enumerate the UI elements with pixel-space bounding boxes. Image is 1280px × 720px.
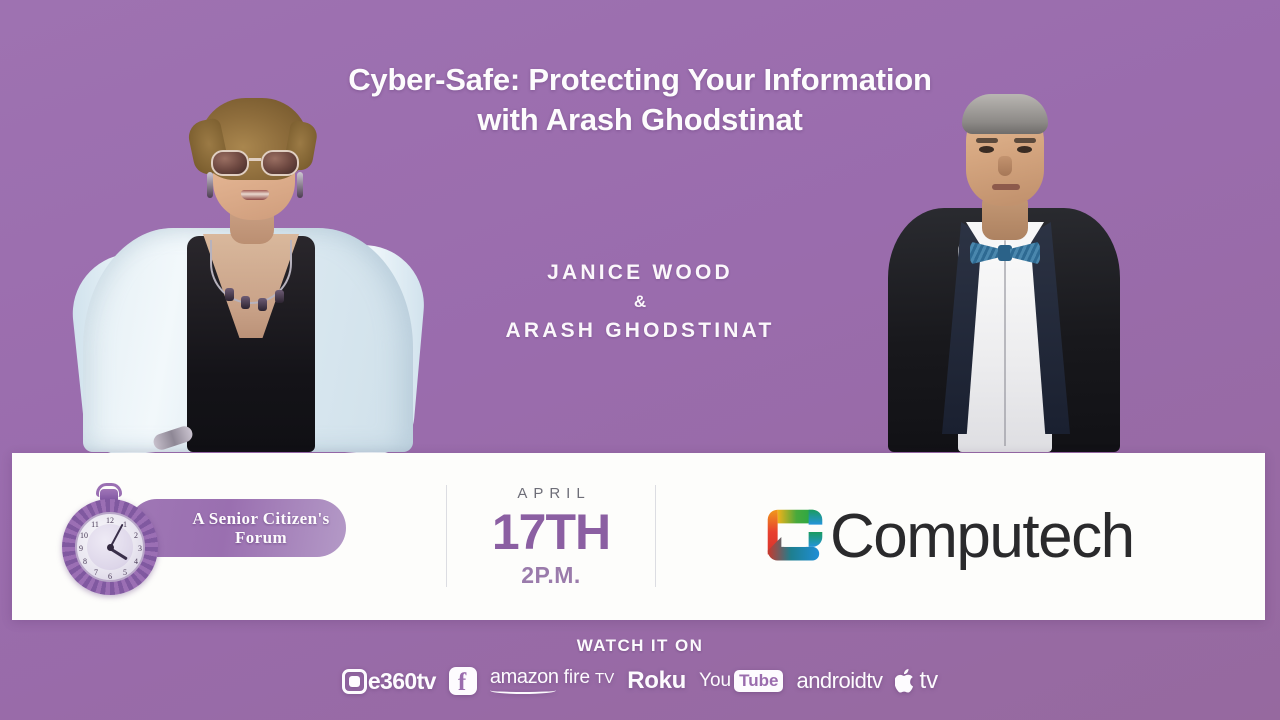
- title-line-2: with Arash Ghodstinat: [0, 100, 1280, 140]
- platform-roku[interactable]: Roku: [627, 666, 686, 696]
- sponsor-logo-computech[interactable]: Computech: [764, 506, 1134, 568]
- platform-amazon-firetv[interactable]: amazon fire TV: [490, 666, 614, 696]
- woman-earring-right: [297, 172, 303, 198]
- platform-appletv[interactable]: tv: [895, 666, 938, 696]
- watch-numeral: 9: [76, 544, 86, 553]
- title-line-1: Cyber-Safe: Protecting Your Information: [0, 60, 1280, 100]
- promo-graphic: Cyber-Safe: Protecting Your Information …: [0, 0, 1280, 720]
- speaker-name-first: JANICE WOOD: [0, 258, 1280, 288]
- page-title: Cyber-Safe: Protecting Your Information …: [0, 60, 1280, 140]
- event-day: 17TH: [446, 504, 656, 560]
- watch-center-pin: [107, 544, 114, 551]
- platform-facebook[interactable]: f: [449, 666, 477, 696]
- platform-e360tv[interactable]: e360tv: [342, 666, 436, 696]
- sunglass-lens-right: [261, 150, 299, 176]
- watch-it-on-section: WATCH IT ON: [0, 636, 1280, 656]
- woman-mouth: [241, 190, 269, 200]
- watch-numeral: 2: [131, 531, 141, 540]
- apple-tv-icon: [895, 668, 917, 694]
- watch-numeral: 4: [131, 557, 141, 566]
- watch-numeral: 5: [120, 568, 130, 577]
- amazon-smile-icon: [490, 687, 556, 694]
- e360tv-icon: [342, 669, 367, 694]
- amazon-firetv-icon: amazon fire TV: [490, 666, 614, 689]
- watch-numeral: 8: [80, 557, 90, 566]
- speaker-name-separator: &: [0, 288, 1280, 316]
- platform-androidtv[interactable]: androidtv: [796, 666, 882, 696]
- forum-logo-line-1: A Senior Citizen's: [144, 509, 329, 528]
- watch-numeral: 7: [91, 568, 101, 577]
- facebook-icon: f: [449, 667, 477, 695]
- amazon-word: amazon: [490, 666, 559, 689]
- watch-numeral: 6: [105, 572, 115, 581]
- platform-label-e360tv: e360tv: [368, 668, 436, 695]
- speaker-name-second: ARASH GHODSTINAT: [0, 316, 1280, 346]
- watch-numeral: 3: [135, 544, 145, 553]
- facebook-f-glyph: f: [458, 670, 466, 695]
- man-eye-left: [979, 146, 994, 153]
- pocket-watch-icon: 12 1 2 3 4 5 6 7 8 9 10 11: [58, 483, 162, 595]
- youtube-icon: Tube: [734, 670, 783, 692]
- event-month: APRIL: [446, 485, 656, 502]
- sunglass-lens-left: [211, 150, 249, 176]
- roku-icon: Roku: [627, 667, 686, 695]
- woman-earring-left: [207, 172, 213, 198]
- sunglass-bridge: [249, 158, 261, 161]
- watch-it-on-label: WATCH IT ON: [577, 636, 704, 655]
- fire-word: fire: [564, 667, 590, 689]
- sunglasses-icon: [211, 150, 299, 176]
- platform-youtube[interactable]: You Tube: [699, 666, 783, 696]
- event-date-block: APRIL 17TH 2P.M.: [446, 479, 656, 595]
- forum-logo-line-2: Forum: [187, 528, 287, 547]
- youtube-you-word: You: [699, 670, 731, 692]
- man-eye-right: [1017, 146, 1032, 153]
- computech-c-icon: [764, 506, 826, 568]
- platform-logos-row: e360tv f amazon fire TV Roku You Tube an…: [0, 666, 1280, 696]
- man-nose: [998, 156, 1012, 176]
- info-panel: A Senior Citizen's Forum 12 1 2 3 4 5 6 …: [12, 453, 1265, 620]
- androidtv-icon: androidtv: [796, 668, 882, 694]
- man-mouth: [992, 184, 1020, 190]
- forum-logo[interactable]: A Senior Citizen's Forum 12 1 2 3 4 5 6 …: [50, 477, 350, 597]
- event-time: 2P.M.: [446, 562, 656, 589]
- speaker-names: JANICE WOOD & ARASH GHODSTINAT: [0, 258, 1280, 346]
- tv-word: TV: [595, 670, 614, 687]
- sponsor-name: Computech: [830, 506, 1134, 568]
- apple-tv-label: tv: [919, 667, 938, 695]
